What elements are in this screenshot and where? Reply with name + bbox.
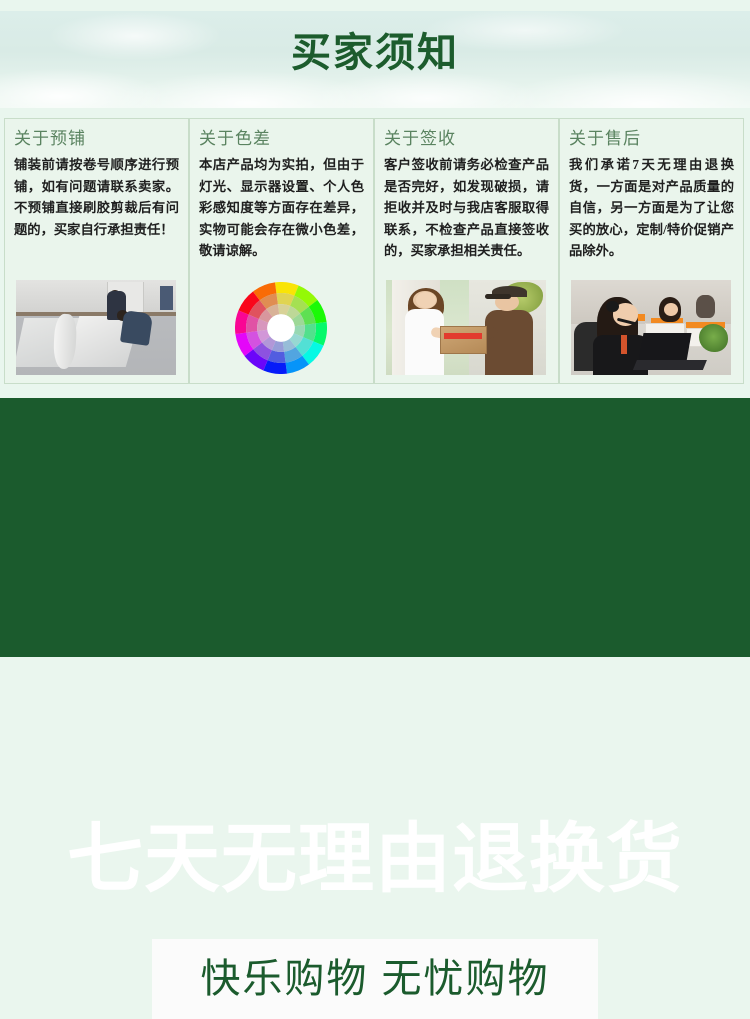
info-card-receiving: 关于签收 客户签收前请务必检查产品是否完好，如发现破损，请拒收并及时与我店客服取… [374, 118, 559, 384]
banner-headline: 七天无理由退换货 [0, 822, 750, 898]
banner-subtitle: 快乐购物 无忧购物 [200, 959, 549, 999]
banner-subtitle-box: 快乐购物 无忧购物 [152, 939, 598, 1019]
info-card-color-difference: 关于色差 本店产品均为实拍，但由于灯光、显示器设置、个人色彩感知度等方面存在差异… [189, 118, 374, 384]
card-title-color-difference: 关于色差 [199, 129, 364, 149]
color-wheel-graphic [201, 280, 361, 375]
card-body-receiving: 客户签收前请务必检查产品是否完好，如发现破损，请拒收并及时与我店客服取得联系，不… [384, 154, 549, 262]
guarantee-banner: 七天无理由退换货 快乐购物 无忧购物 [0, 398, 750, 657]
card-title-pre-lay: 关于预铺 [14, 129, 179, 149]
package-delivery-photo [386, 280, 546, 375]
card-body-color-difference: 本店产品均为实拍，但由于灯光、显示器设置、个人色彩感知度等方面存在差异，实物可能… [199, 154, 364, 262]
info-card-row: 关于预铺 铺装前请按卷号顺序进行预铺，如有问题请联系卖家。不预铺直接刷胶剪裁后有… [4, 118, 746, 384]
card-body-pre-lay: 铺装前请按卷号顺序进行预铺，如有问题请联系卖家。不预铺直接刷胶剪裁后有问题的，买… [14, 154, 179, 240]
card-title-receiving: 关于签收 [384, 129, 549, 149]
info-card-after-sales: 关于售后 我们承诺7天无理由退换货，一方面是对产品质量的自信，另一方面是为了让您… [559, 118, 744, 384]
card-body-after-sales: 我们承诺7天无理由退换货，一方面是对产品质量的自信，另一方面是为了让您买的放心，… [569, 154, 734, 262]
color-wheel-icon [235, 282, 327, 374]
customer-service-photo [571, 280, 731, 375]
buyer-notice-page: 买家须知 关于预铺 铺装前请按卷号顺序进行预铺，如有问题请联系卖家。不预铺直接刷… [0, 0, 750, 657]
page-title: 买家须知 [0, 33, 750, 73]
info-card-pre-lay: 关于预铺 铺装前请按卷号顺序进行预铺，如有问题请联系卖家。不预铺直接刷胶剪裁后有… [4, 118, 189, 384]
card-title-after-sales: 关于售后 [569, 129, 734, 149]
flooring-installation-photo [16, 280, 176, 375]
